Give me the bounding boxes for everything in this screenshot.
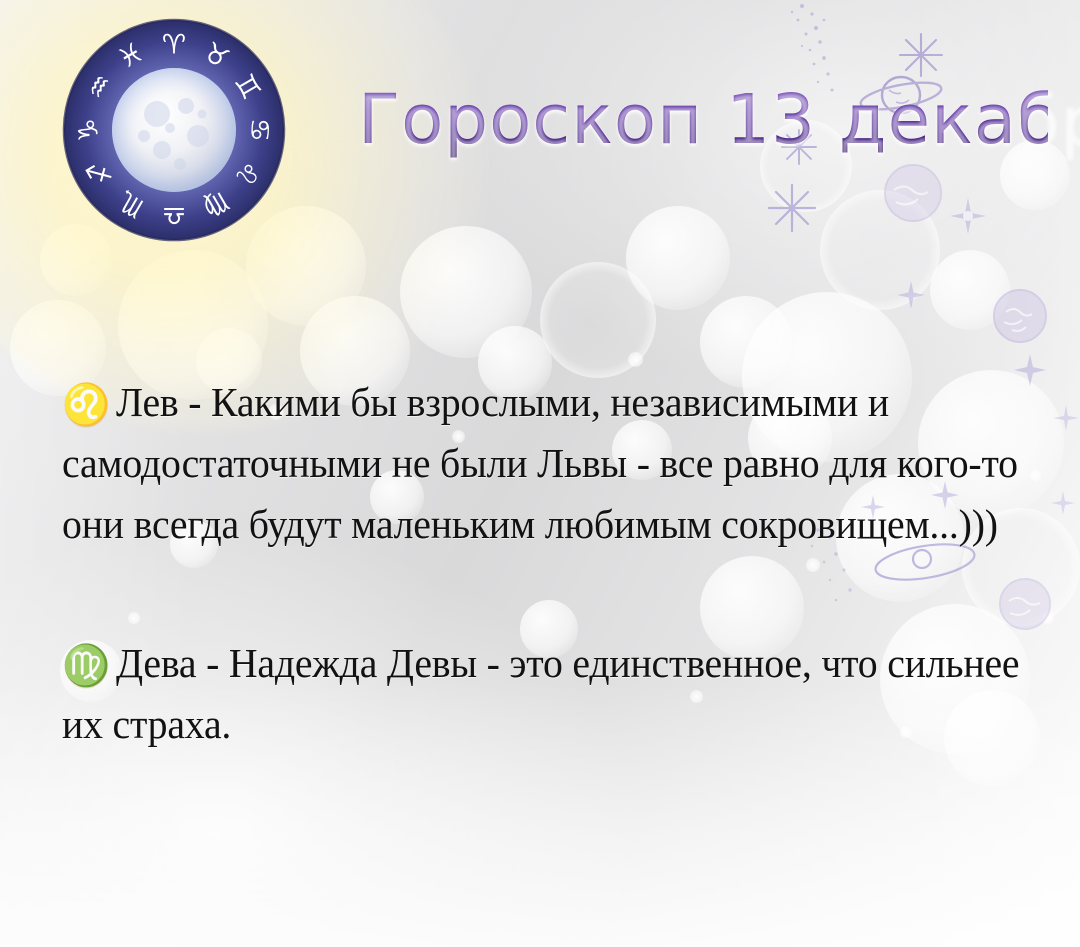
zodiac-wheel: ♈ ♉ ♊ ♋ ♌ ♍ ♎ ♏ ♐ ♑ ♒ ♓ (62, 18, 286, 242)
svg-text:♑: ♑ (74, 118, 105, 142)
virgo-description: Дева - Надежда Девы - это единственное, … (62, 640, 1019, 747)
sign-block-virgo: ♍Дева - Надежда Девы - это единственное,… (62, 633, 1052, 755)
leo-description: Лев - Какими бы взрослыми, независимыми … (62, 379, 1018, 547)
sign-block-leo: ♌Лев - Какими бы взрослыми, независимыми… (62, 372, 1052, 555)
horoscope-content: ♌Лев - Какими бы взрослыми, независимыми… (62, 372, 1052, 755)
virgo-symbol-icon: ♍ (62, 643, 110, 688)
svg-text:♎: ♎ (162, 200, 186, 231)
svg-text:♈: ♈ (162, 30, 186, 61)
leo-text: ♌Лев - Какими бы взрослыми, независимыми… (62, 372, 1022, 555)
leo-symbol-icon: ♌ (62, 382, 110, 427)
virgo-text: ♍Дева - Надежда Девы - это единственное,… (62, 633, 1022, 755)
horoscope-poster: ♈ ♉ ♊ ♋ ♌ ♍ ♎ ♏ ♐ ♑ ♒ ♓ Гороскоп 13 дека… (0, 0, 1080, 947)
page-title: Гороскоп 13 декабря (358, 74, 1048, 166)
svg-text:♋: ♋ (244, 118, 275, 142)
